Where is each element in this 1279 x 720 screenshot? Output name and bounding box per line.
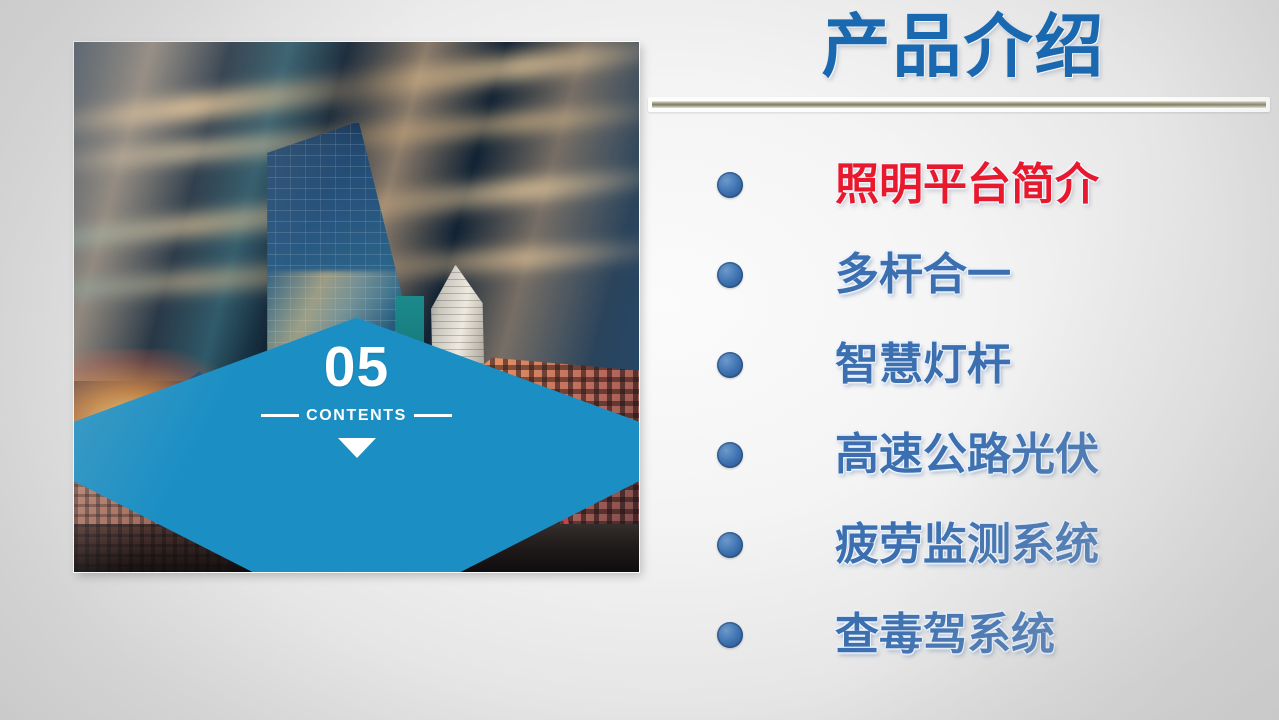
city-skyline-photo: 05 CONTENTS <box>74 42 639 572</box>
bullet-dot-icon <box>717 622 743 648</box>
presentation-slide: 05 CONTENTS 产品介绍 照明平台简介 多杆合一 <box>0 0 1279 720</box>
bullet-dot-icon <box>717 262 743 288</box>
bullet-label: 多杆合一 <box>835 253 1011 297</box>
bullet-dot-icon <box>717 352 743 378</box>
list-item[interactable]: 疲劳监测系统 <box>700 500 1279 590</box>
sunset-glow <box>74 349 244 476</box>
slide-title: 产品介绍 <box>648 6 1279 89</box>
bullet-dot-icon <box>717 532 743 558</box>
slide-image-frame: 05 CONTENTS <box>74 42 639 572</box>
bullet-list: 照明平台简介 多杆合一 智慧灯杆 高速公路光伏 疲劳监测系统 查毒驾系统 <box>700 140 1279 680</box>
list-item[interactable]: 智慧灯杆 <box>700 320 1279 410</box>
title-divider <box>648 97 1270 112</box>
bullet-dot-icon <box>717 442 743 468</box>
bullet-label: 查毒驾系统 <box>835 613 1055 657</box>
foreground-shadow <box>74 524 639 572</box>
bullet-dot-icon <box>717 172 743 198</box>
list-item[interactable]: 高速公路光伏 <box>700 410 1279 500</box>
list-item[interactable]: 查毒驾系统 <box>700 590 1279 680</box>
list-item[interactable]: 照明平台简介 <box>700 140 1279 230</box>
bullet-label: 疲劳监测系统 <box>835 523 1099 567</box>
bullet-label: 照明平台简介 <box>835 163 1099 207</box>
list-item[interactable]: 多杆合一 <box>700 230 1279 320</box>
bullet-label: 高速公路光伏 <box>835 433 1099 477</box>
bullet-label: 智慧灯杆 <box>835 343 1011 387</box>
divider-bevel <box>652 100 1266 109</box>
